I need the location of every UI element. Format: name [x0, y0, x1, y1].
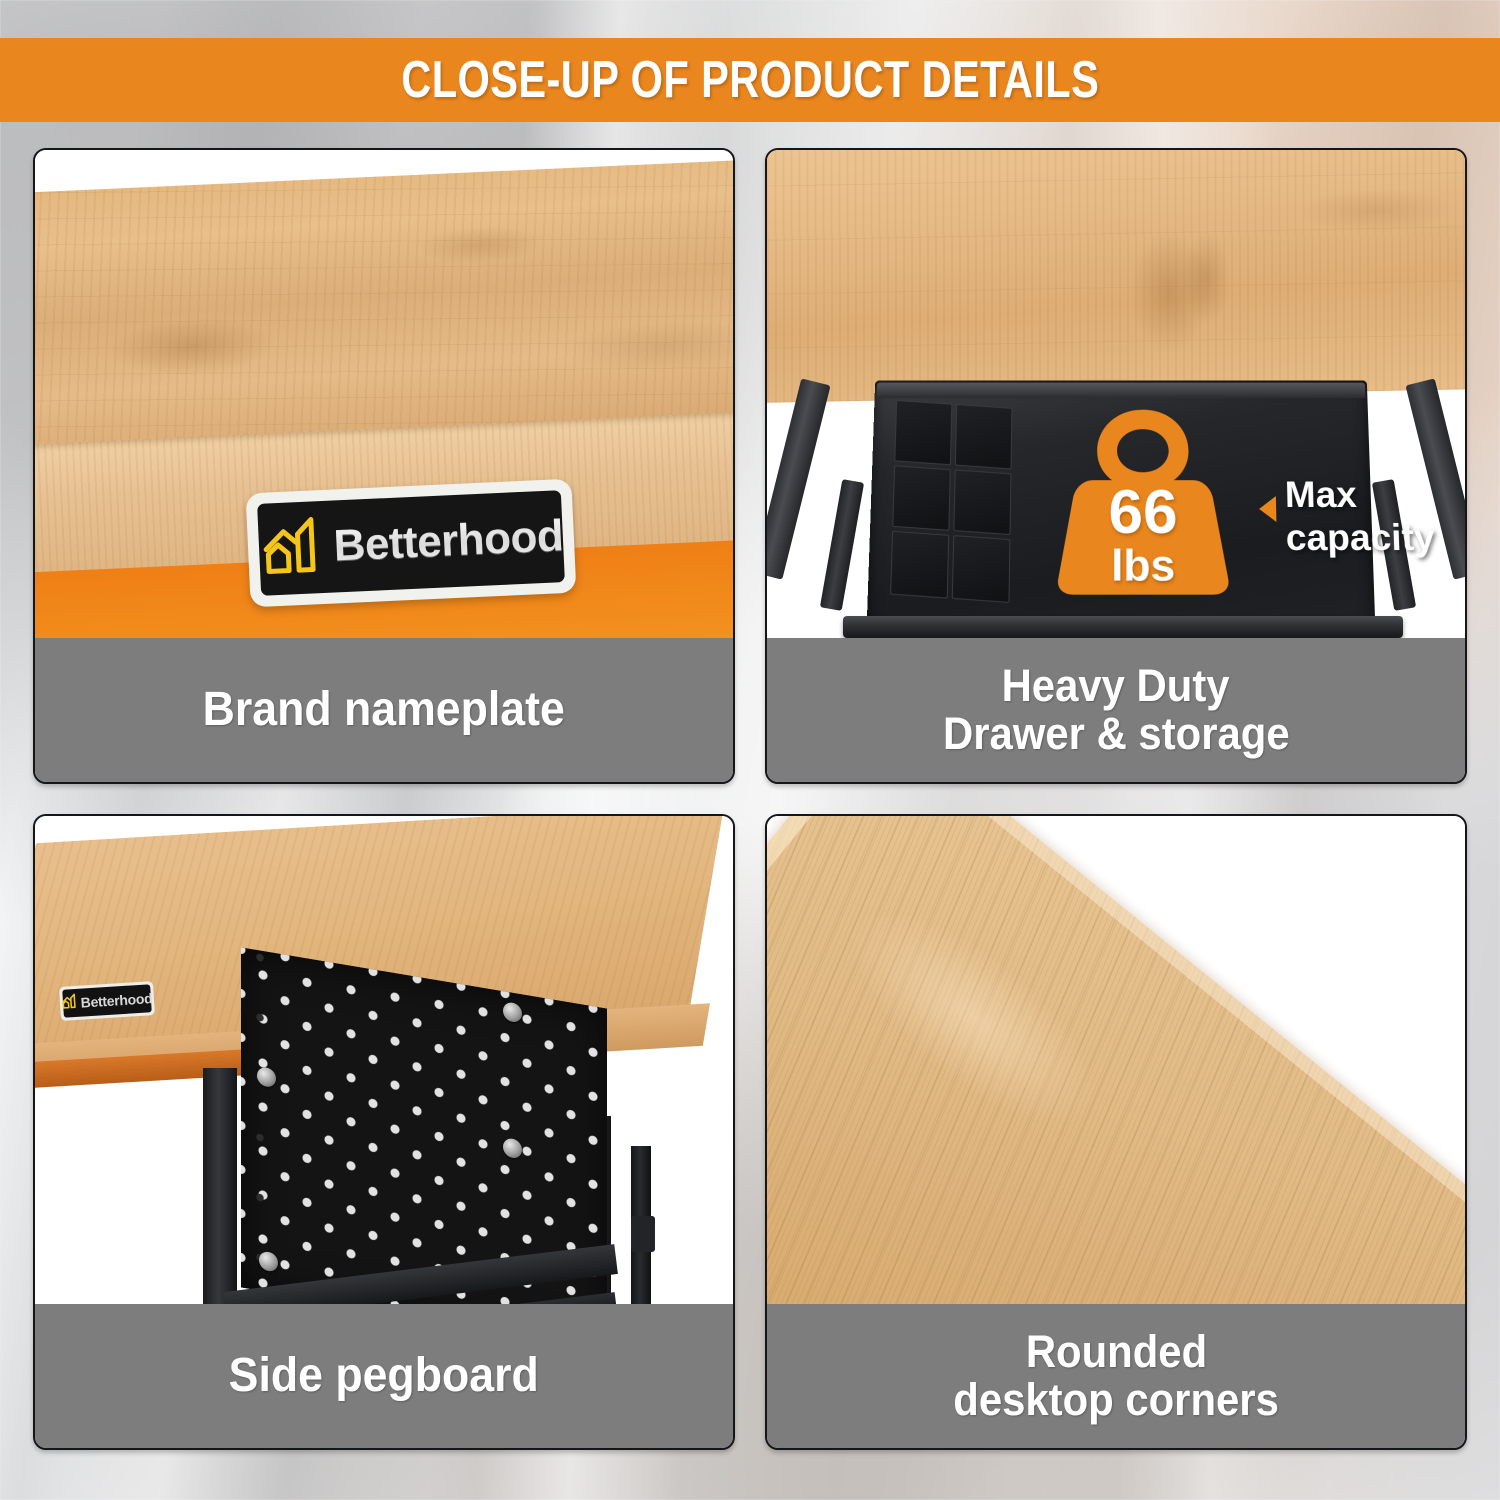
panel-heavy-duty-drawer[interactable]: 66 lbs Max capacity Heavy Duty Drawer & …: [765, 148, 1467, 784]
nameplate-face: Betterhood: [257, 490, 565, 596]
max-capacity-label: Max capacity: [1284, 474, 1465, 560]
drawer-cell: [894, 400, 952, 465]
photo-heavy-duty-drawer: 66 lbs Max capacity: [767, 150, 1465, 638]
drawer-cell: [890, 531, 949, 598]
caption-rounded-desktop-corners: Rounded desktop corners: [767, 1304, 1465, 1448]
max-capacity-label-line: Max: [1284, 474, 1465, 517]
workbench-wood-top: [35, 158, 733, 454]
house-building-outline-icon: [261, 513, 330, 583]
photo-rounded-desktop-corners: [767, 816, 1465, 1304]
caption-line: Drawer & storage: [943, 711, 1290, 757]
brand-name-text: Betterhood: [333, 514, 564, 568]
pegboard-mount-slot-column: [253, 949, 267, 1291]
workbench-wood-top: [767, 150, 1465, 403]
feature-panel-grid: Betterhood Brand nameplate: [33, 148, 1467, 1450]
workbench-leg-left: [767, 378, 831, 579]
panel-side-pegboard[interactable]: Betterhood Side p: [33, 814, 735, 1450]
drawer-cell: [955, 404, 1013, 469]
drawer-cell: [892, 465, 951, 531]
triangle-left-icon: [1259, 496, 1277, 522]
caption-side-pegboard: Side pegboard: [35, 1304, 733, 1448]
brand-badge: Betterhood: [59, 981, 155, 1021]
max-capacity-label-line: capacity: [1285, 517, 1465, 560]
brand-nameplate-plate: Betterhood: [246, 479, 577, 608]
storage-drawer: 66 lbs Max capacity: [867, 381, 1376, 628]
caption-line: Side pegboard: [229, 1351, 539, 1400]
banner-title: CLOSE-UP OF PRODUCT DETAILS: [401, 50, 1099, 110]
caption-line: Heavy Duty: [1002, 663, 1230, 709]
workbench-leg-left-lower: [820, 479, 864, 611]
max-capacity-value: 66: [1057, 484, 1230, 543]
caption-line: Brand nameplate: [203, 685, 565, 734]
panel-rounded-desktop-corners[interactable]: Rounded desktop corners: [765, 814, 1467, 1450]
drawer-cell: [952, 535, 1011, 603]
drawer-rim: [877, 383, 1366, 398]
pegboard-hole-grid: [241, 947, 607, 1304]
weight-kettlebell-icon: 66 lbs: [1056, 404, 1230, 599]
max-capacity-unit: lbs: [1056, 544, 1230, 589]
caption-line: Rounded: [1025, 1329, 1206, 1375]
desktop-wood-slab: [767, 816, 1465, 1304]
panel-brand-nameplate[interactable]: Betterhood Brand nameplate: [33, 148, 735, 784]
house-building-outline-icon: [61, 991, 79, 1015]
caption-line: desktop corners: [953, 1377, 1279, 1423]
product-details-infographic: CLOSE-UP OF PRODUCT DETAILS: [0, 0, 1500, 1500]
header-banner: CLOSE-UP OF PRODUCT DETAILS: [0, 38, 1500, 122]
caption-brand-nameplate: Brand nameplate: [35, 638, 733, 782]
drawer-compartment-dividers: [890, 400, 1012, 603]
workbench-leg-front: [203, 1068, 237, 1304]
brand-badge-face: Betterhood: [62, 984, 152, 1017]
drawer-front-panel: [843, 616, 1403, 638]
photo-side-pegboard: Betterhood: [35, 816, 733, 1304]
side-pegboard-panel: [241, 947, 607, 1304]
workbench-foot: [631, 1216, 655, 1252]
brand-name-text: Betterhood: [80, 990, 153, 1010]
photo-brand-nameplate: Betterhood: [35, 150, 733, 638]
caption-heavy-duty-drawer: Heavy Duty Drawer & storage: [767, 638, 1465, 782]
drawer-cell: [953, 469, 1011, 535]
